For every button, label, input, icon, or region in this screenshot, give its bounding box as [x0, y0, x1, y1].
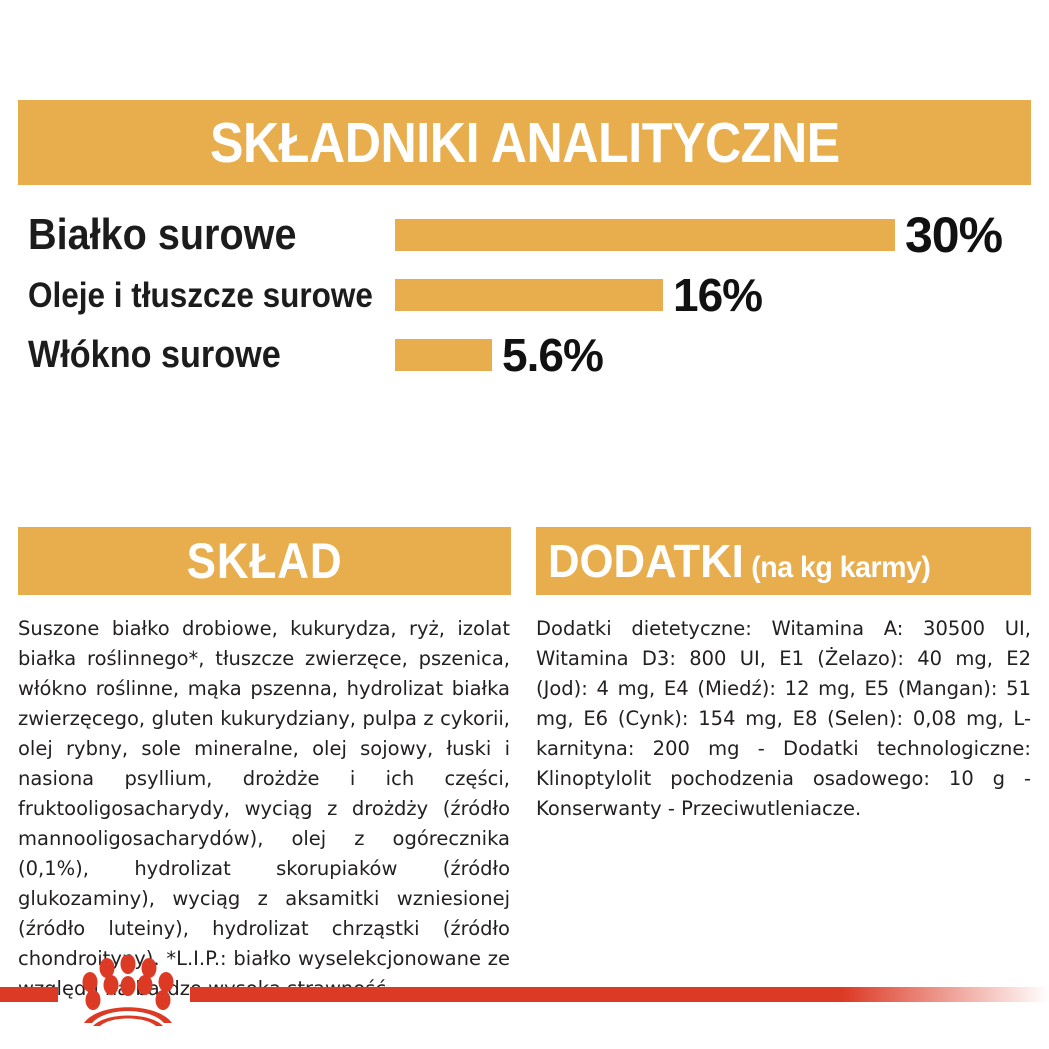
- nutrient-label: Włókno surowe: [28, 336, 358, 374]
- footer-rule-right: [190, 987, 1049, 1002]
- nutrient-bar: [395, 219, 895, 251]
- nutrient-row: Oleje i tłuszcze surowe 16%: [28, 265, 1028, 325]
- nutrient-bar: [395, 279, 663, 311]
- composition-banner: SKŁAD: [18, 527, 511, 595]
- nutrient-value: 5.6%: [502, 332, 603, 378]
- brand-footer-strip: [0, 955, 1049, 1049]
- additives-title-main: DODATKI: [548, 535, 744, 587]
- nutrient-row: Włókno surowe 5.6%: [28, 325, 1028, 385]
- composition-text: Suszone białko drobiowe, kukurydza, ryż,…: [18, 614, 510, 1004]
- additives-text: Dodatki dietetyczne: Witamina A: 30500 U…: [536, 614, 1031, 824]
- nutrient-bar: [395, 339, 492, 371]
- nutrient-label: Oleje i tłuszcze surowe: [28, 278, 358, 313]
- additives-title-subtitle: (na kg karmy): [744, 551, 931, 584]
- analytical-constituents-chart: Białko surowe 30% Oleje i tłuszcze surow…: [28, 205, 1028, 385]
- nutrient-value: 16%: [673, 272, 762, 318]
- royal-canin-crown-icon: [66, 955, 190, 1027]
- nutrient-row: Białko surowe 30%: [28, 205, 1028, 265]
- additives-title: DODATKI (na kg karmy): [548, 534, 930, 588]
- analytical-constituents-banner: SKŁADNIKI ANALITYCZNE: [18, 100, 1031, 185]
- additives-banner: DODATKI (na kg karmy): [536, 527, 1031, 595]
- nutrient-label: Białko surowe: [28, 213, 358, 257]
- composition-title: SKŁAD: [187, 532, 343, 590]
- nutrient-value: 30%: [905, 210, 1002, 260]
- analytical-constituents-title: SKŁADNIKI ANALITYCZNE: [210, 110, 840, 176]
- footer-rule-left: [0, 987, 58, 1002]
